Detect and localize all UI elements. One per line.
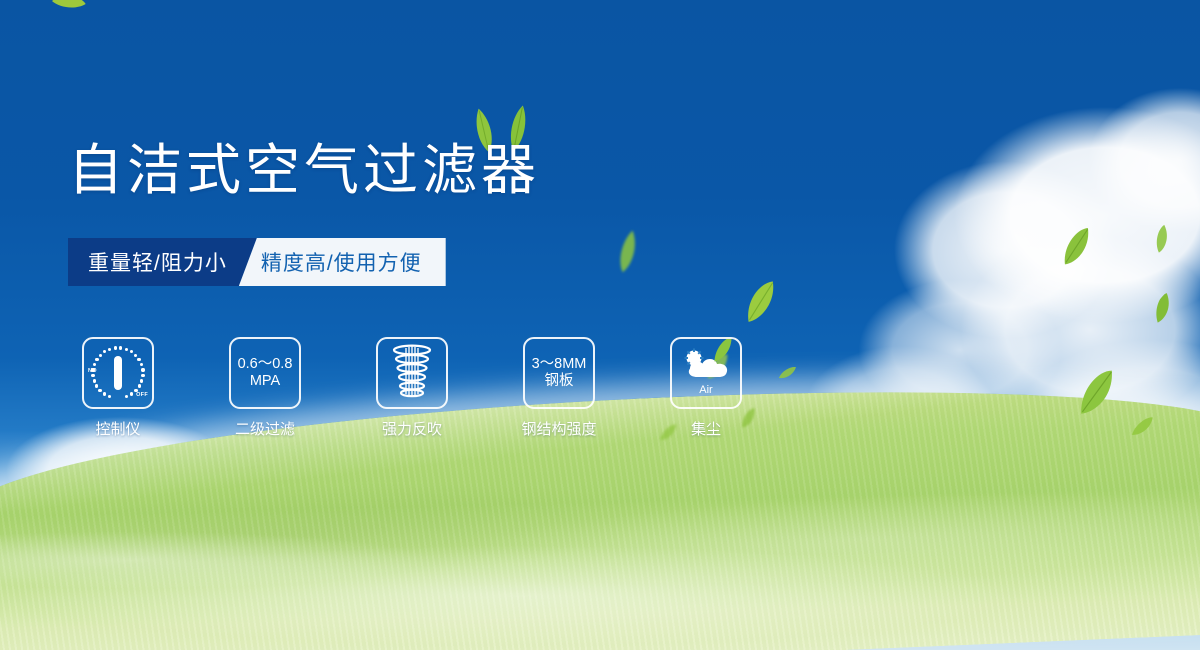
feature-item-backblow[interactable]: 强力反吹 [376, 337, 448, 439]
tagline-bar: 重量轻/阻力小 精度高/使用方便 [68, 238, 446, 286]
dial-tick [125, 395, 128, 398]
feature-label: 钢结构强度 [522, 418, 597, 439]
dial-needle [114, 356, 122, 390]
feature-label: 强力反吹 [382, 418, 442, 439]
dial-tick [108, 348, 111, 351]
dial-gauge-icon: NO OFF [89, 344, 147, 402]
dial-tick [134, 354, 137, 357]
tagline-secondary: 精度高/使用方便 [239, 238, 446, 286]
tagline-primary: 重量轻/阻力小 [68, 238, 257, 286]
dial-tick [134, 389, 137, 392]
hero-banner: 自洁式空气过滤器 重量轻/阻力小 精度高/使用方便 NO OFF 控制仪 [0, 0, 1200, 650]
feature-label: 集尘 [691, 418, 721, 439]
feature-item-dust-collection[interactable]: Air 集尘 [670, 337, 742, 439]
air-label: Air [699, 384, 712, 396]
feature-icon-box [376, 337, 448, 409]
dial-tick [108, 395, 111, 398]
dial-tick [91, 374, 94, 377]
dial-tick [95, 384, 98, 387]
feature-list: NO OFF 控制仪 0.6〜0.8 MPA 二级过滤 [82, 337, 742, 439]
dial-tick [130, 350, 133, 353]
dial-tick [114, 346, 117, 349]
dial-tick [130, 392, 133, 395]
dial-tick [141, 368, 144, 371]
dial-tick [99, 354, 102, 357]
dial-tick [140, 379, 143, 382]
feature-icon-box: 3〜8MM 钢板 [523, 337, 595, 409]
dial-tick [140, 363, 143, 366]
dial-tick [93, 379, 96, 382]
feature-item-control-dial[interactable]: NO OFF 控制仪 [82, 337, 154, 439]
dial-tick [93, 363, 96, 366]
feature-item-pressure[interactable]: 0.6〜0.8 MPA 二级过滤 [229, 337, 301, 439]
feature-label: 控制仪 [95, 418, 140, 439]
feature-item-steel-plate[interactable]: 3〜8MM 钢板 钢结构强度 [523, 337, 595, 439]
page-title: 自洁式空气过滤器 [68, 143, 540, 198]
dial-tick [98, 389, 101, 392]
feature-icon-box: NO OFF [82, 337, 154, 409]
feature-icon-box: Air [670, 337, 742, 409]
dial-label-off: OFF [136, 392, 148, 398]
dial-tick [125, 348, 128, 351]
dial-tick [141, 374, 144, 377]
steel-thickness-text: 3〜8MM [532, 356, 587, 373]
dial-tick [138, 384, 141, 387]
dial-tick [91, 368, 94, 371]
feature-label: 二级过滤 [235, 418, 295, 439]
pressure-range-text: 0.6〜0.8 [238, 356, 293, 373]
dial-tick [95, 358, 98, 361]
filter-coil-icon [389, 344, 435, 403]
dial-tick [103, 350, 106, 353]
feature-icon-box: 0.6〜0.8 MPA [229, 337, 301, 409]
dial-tick [119, 346, 122, 349]
dial-tick [137, 358, 140, 361]
steel-plate-text: 钢板 [545, 373, 574, 390]
dial-tick [103, 392, 106, 395]
pressure-unit-text: MPA [250, 373, 280, 390]
